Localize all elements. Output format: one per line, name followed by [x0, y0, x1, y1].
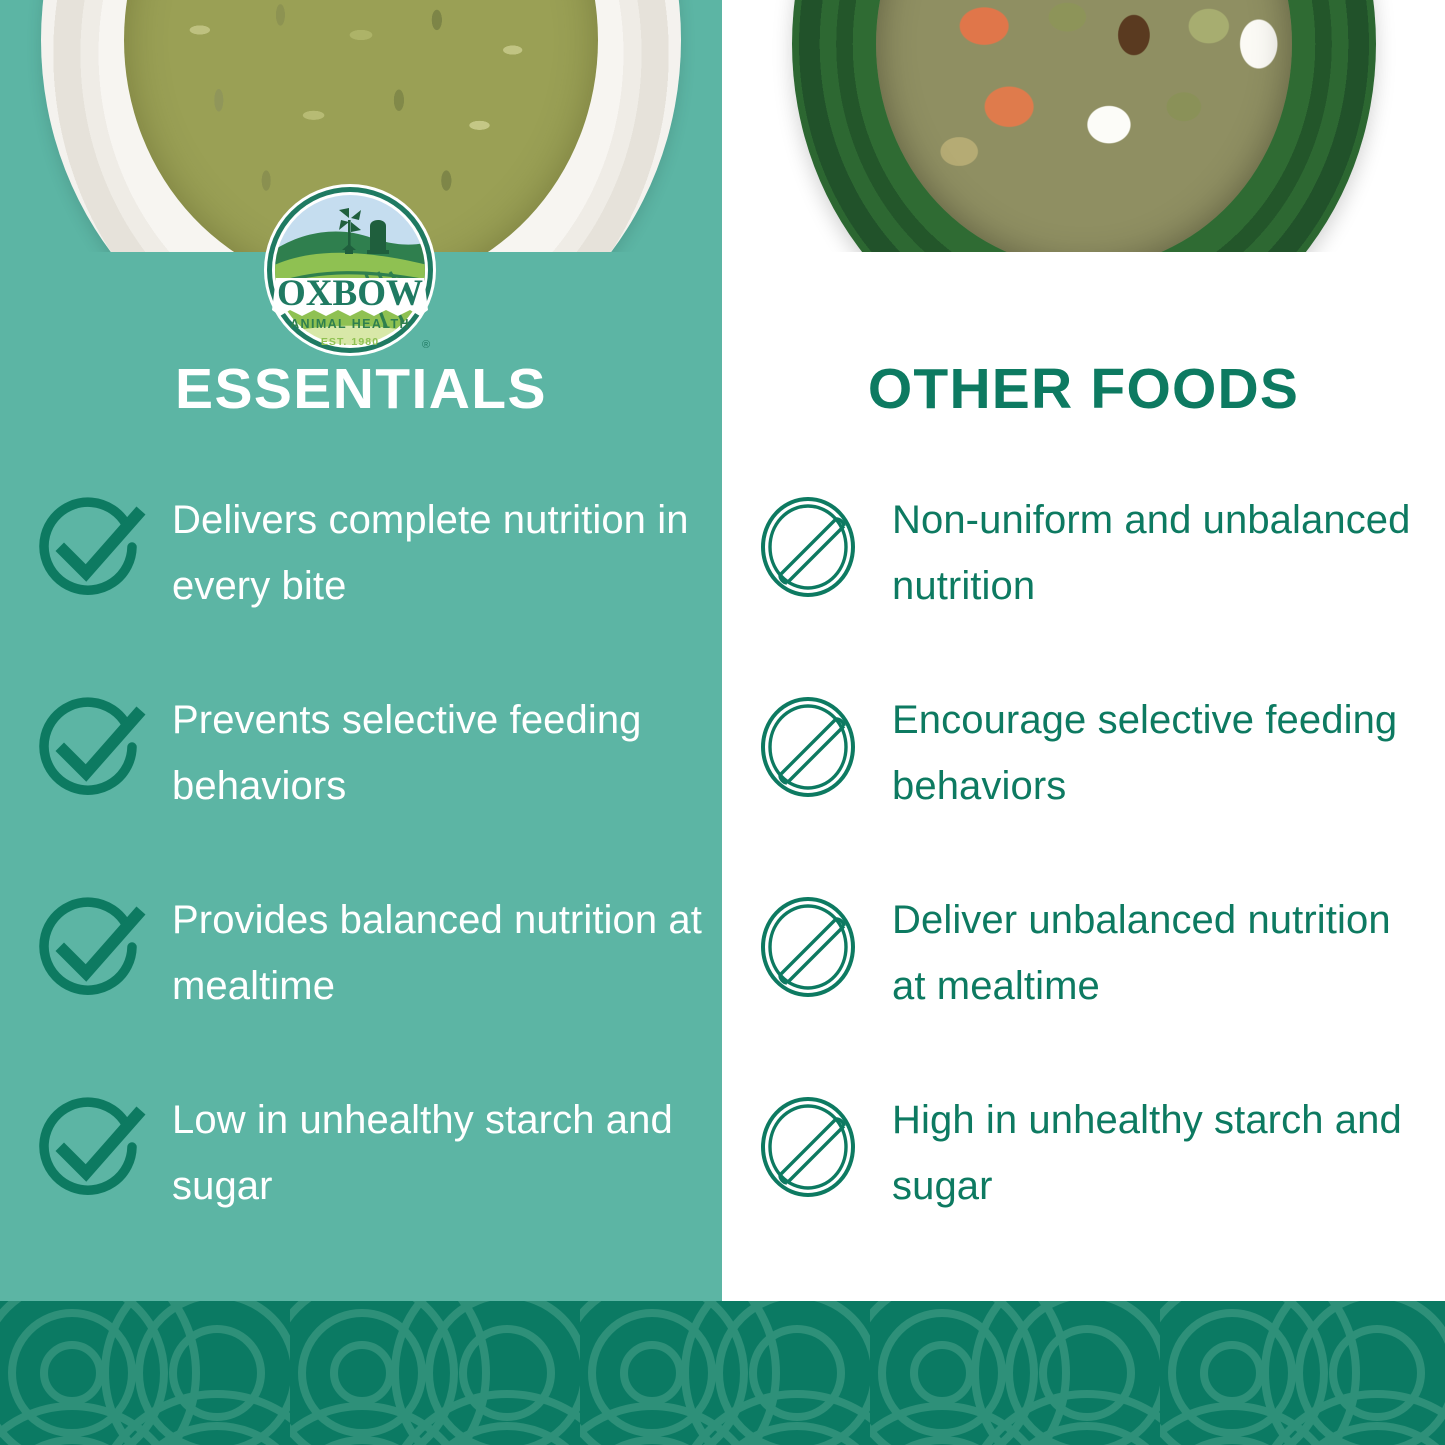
- oxbow-logo: OXBOW ANIMAL HEALTH EST. 1980 ®: [262, 182, 438, 358]
- other-foods-heading: OTHER FOODS: [722, 358, 1445, 420]
- other-foods-photo: [722, 0, 1445, 252]
- list-item-label: Deliver unbalanced nutrition at mealtime: [860, 887, 1426, 1020]
- list-item: Low in unhealthy starch and sugar: [34, 1087, 714, 1287]
- comparison-infographic: OXBOW ANIMAL HEALTH EST. 1980 ® ESSENTIA…: [0, 0, 1445, 1445]
- list-item-label: Provides balanced nutrition at mealtime: [146, 887, 714, 1020]
- headings-row: ESSENTIALS OTHER FOODS: [0, 358, 1445, 420]
- list-item: Encourage selective feeding behaviors: [756, 687, 1426, 887]
- concentric-circles-pattern: [0, 1301, 1445, 1445]
- check-circle-icon: [34, 491, 146, 603]
- logo-tagline: ANIMAL HEALTH: [290, 317, 410, 331]
- logo-wordmark: OXBOW: [277, 273, 423, 314]
- logo-trademark: ®: [422, 339, 430, 351]
- essentials-heading: ESSENTIALS: [0, 358, 722, 420]
- prohibition-icon: [756, 495, 860, 599]
- footer-pattern-band: [0, 1301, 1445, 1445]
- green-bowl: [792, 0, 1376, 252]
- list-item-label: Prevents selective feeding behaviors: [146, 687, 714, 820]
- list-item: Delivers complete nutrition in every bit…: [34, 487, 714, 687]
- list-item-label: Non-uniform and unbalanced nutrition: [860, 487, 1426, 620]
- logo-established: EST. 1980: [321, 336, 379, 348]
- prohibition-icon: [756, 695, 860, 799]
- list-item: Deliver unbalanced nutrition at mealtime: [756, 887, 1426, 1087]
- other-foods-list: Non-uniform and unbalanced nutrition Enc…: [756, 487, 1426, 1287]
- list-item: Prevents selective feeding behaviors: [34, 687, 714, 887]
- list-item-label: Low in unhealthy starch and sugar: [146, 1087, 714, 1220]
- list-item: Provides balanced nutrition at mealtime: [34, 887, 714, 1087]
- list-item: Non-uniform and unbalanced nutrition: [756, 487, 1426, 687]
- list-item-label: Encourage selective feeding behaviors: [860, 687, 1426, 820]
- check-circle-icon: [34, 891, 146, 1003]
- check-circle-icon: [34, 1091, 146, 1203]
- list-item-label: Delivers complete nutrition in every bit…: [146, 487, 714, 620]
- list-item-label: High in unhealthy starch and sugar: [860, 1087, 1426, 1220]
- prohibition-icon: [756, 1095, 860, 1199]
- prohibition-icon: [756, 895, 860, 999]
- muesli-mix: [876, 0, 1292, 252]
- list-item: High in unhealthy starch and sugar: [756, 1087, 1426, 1287]
- check-circle-icon: [34, 691, 146, 803]
- essentials-list: Delivers complete nutrition in every bit…: [34, 487, 714, 1287]
